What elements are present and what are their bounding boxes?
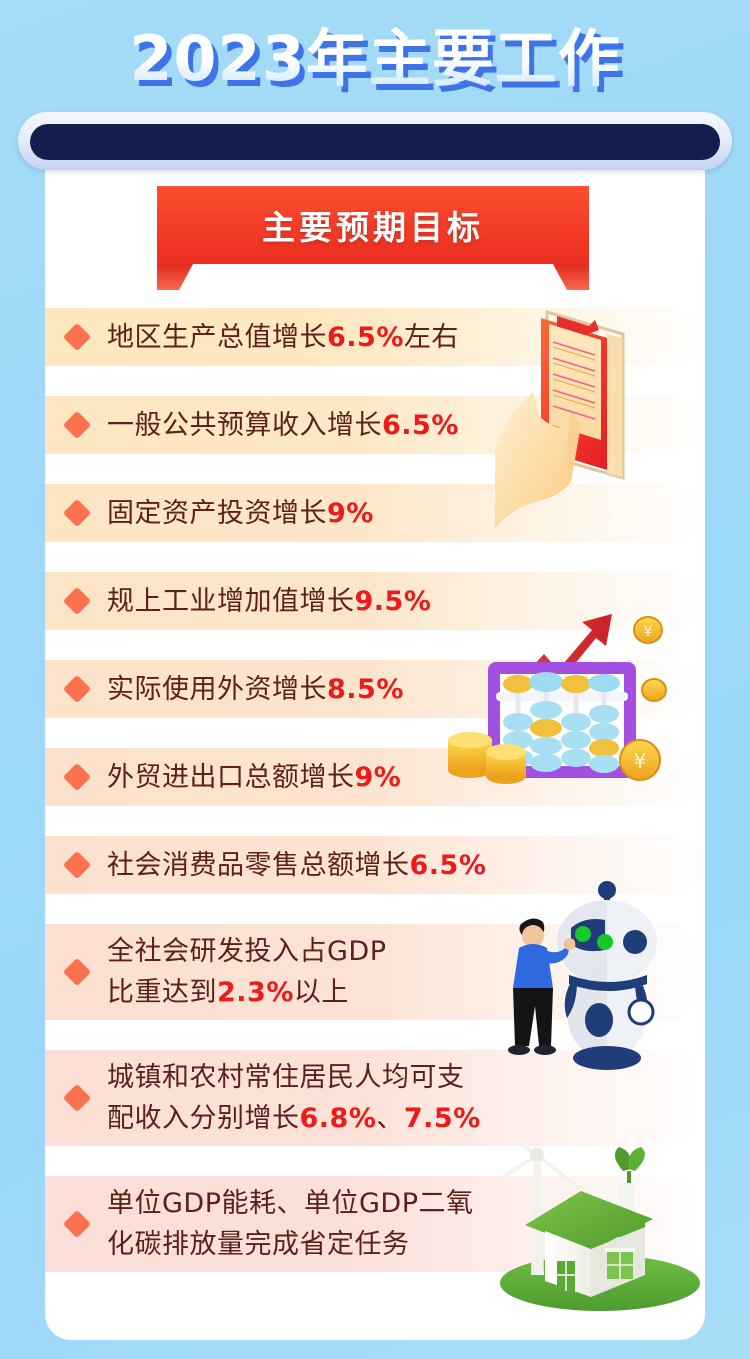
goal-value: 9% xyxy=(355,762,402,793)
goal-row: 全社会研发投入占GDP比重达到2.3%以上 xyxy=(45,924,705,1020)
header-pill-navy-bar xyxy=(30,124,720,160)
goal-row: 单位GDP能耗、单位GDP二氧化碳排放量完成省定任务 xyxy=(45,1176,705,1272)
goal-list: 地区生产总值增长6.5%左右一般公共预算收入增长6.5%固定资产投资增长9%规上… xyxy=(45,308,705,1302)
diamond-bullet-icon xyxy=(63,1210,91,1238)
goal-row: 规上工业增加值增长9.5% xyxy=(45,572,705,630)
goal-label: 城镇和农村常住居民人均可支 xyxy=(107,1062,465,1093)
goal-label: 以上 xyxy=(294,977,349,1008)
goal-text-line: 比重达到2.3%以上 xyxy=(107,972,387,1013)
goal-row: 固定资产投资增长9% xyxy=(45,484,705,542)
goal-text: 社会消费品零售总额增长6.5% xyxy=(107,845,486,886)
page-title: 2023年主要工作 xyxy=(129,26,621,92)
goal-label: 单位GDP能耗、单位GDP二氧 xyxy=(107,1188,474,1219)
section-banner: 主要预期目标 xyxy=(157,186,589,264)
goal-text: 一般公共预算收入增长6.5% xyxy=(107,405,459,446)
goal-label: 外贸进出口总额增长 xyxy=(107,762,355,793)
goal-text: 单位GDP能耗、单位GDP二氧化碳排放量完成省定任务 xyxy=(107,1183,474,1265)
goal-text-line: 外贸进出口总额增长9% xyxy=(107,757,401,798)
goal-text-line: 城镇和农村常住居民人均可支 xyxy=(107,1057,481,1098)
goal-label: 规上工业增加值增长 xyxy=(107,586,355,617)
page-title-wrapper: 2023年主要工作 xyxy=(0,26,750,92)
content-card: 主要预期目标 地区生产总值增长6.5%左右一般公共预算收入增长6.5%固定资产投… xyxy=(45,140,705,1340)
goal-row: 实际使用外资增长8.5% xyxy=(45,660,705,718)
goal-value: 9% xyxy=(327,498,374,529)
goal-text: 城镇和农村常住居民人均可支配收入分别增长6.8%、7.5% xyxy=(107,1057,481,1139)
goal-value: 6.5% xyxy=(410,850,487,881)
diamond-bullet-icon xyxy=(63,1084,91,1112)
diamond-bullet-icon xyxy=(63,763,91,791)
diamond-bullet-icon xyxy=(63,675,91,703)
goal-text-line: 化碳排放量完成省定任务 xyxy=(107,1224,474,1265)
diamond-bullet-icon xyxy=(63,323,91,351)
goal-text-line: 社会消费品零售总额增长6.5% xyxy=(107,845,486,886)
goal-label: 、 xyxy=(376,1103,404,1134)
goal-label: 配收入分别增长 xyxy=(107,1103,300,1134)
goal-label: 一般公共预算收入增长 xyxy=(107,410,382,441)
diamond-bullet-icon xyxy=(63,958,91,986)
goal-row: 城镇和农村常住居民人均可支配收入分别增长6.8%、7.5% xyxy=(45,1050,705,1146)
goal-text-line: 规上工业增加值增长9.5% xyxy=(107,581,431,622)
diamond-bullet-icon xyxy=(63,411,91,439)
goal-row: 外贸进出口总额增长9% xyxy=(45,748,705,806)
goal-label: 全社会研发投入占GDP xyxy=(107,936,387,967)
goal-text-line: 单位GDP能耗、单位GDP二氧 xyxy=(107,1183,474,1224)
goal-label: 地区生产总值增长 xyxy=(107,322,327,353)
goal-label: 实际使用外资增长 xyxy=(107,674,327,705)
diamond-bullet-icon xyxy=(63,499,91,527)
goal-text: 全社会研发投入占GDP比重达到2.3%以上 xyxy=(107,931,387,1013)
goal-text: 固定资产投资增长9% xyxy=(107,493,374,534)
goal-value: 6.5% xyxy=(327,322,404,353)
goal-label: 社会消费品零售总额增长 xyxy=(107,850,410,881)
goal-text-line: 一般公共预算收入增长6.5% xyxy=(107,405,459,446)
goal-row: 一般公共预算收入增长6.5% xyxy=(45,396,705,454)
goal-text: 规上工业增加值增长9.5% xyxy=(107,581,431,622)
goal-value: 2.3% xyxy=(217,977,294,1008)
goal-text-line: 地区生产总值增长6.5%左右 xyxy=(107,317,459,358)
goal-label: 固定资产投资增长 xyxy=(107,498,327,529)
goal-value: 9.5% xyxy=(355,586,432,617)
goal-label: 化碳排放量完成省定任务 xyxy=(107,1229,410,1260)
goal-value: 7.5% xyxy=(404,1103,481,1134)
goal-row: 社会消费品零售总额增长6.5% xyxy=(45,836,705,894)
banner-ribbon-tail xyxy=(157,264,589,290)
banner-label: 主要预期目标 xyxy=(157,186,589,264)
goal-text: 地区生产总值增长6.5%左右 xyxy=(107,317,459,358)
goal-value: 6.5% xyxy=(382,410,459,441)
goal-text: 实际使用外资增长8.5% xyxy=(107,669,404,710)
goal-text-line: 全社会研发投入占GDP xyxy=(107,931,387,972)
goal-text: 外贸进出口总额增长9% xyxy=(107,757,401,798)
goal-row: 地区生产总值增长6.5%左右 xyxy=(45,308,705,366)
goal-text-line: 实际使用外资增长8.5% xyxy=(107,669,404,710)
goal-text-line: 固定资产投资增长9% xyxy=(107,493,374,534)
goal-text-line: 配收入分别增长6.8%、7.5% xyxy=(107,1098,481,1139)
goal-value: 6.8% xyxy=(300,1103,377,1134)
diamond-bullet-icon xyxy=(63,587,91,615)
goal-label: 比重达到 xyxy=(107,977,217,1008)
goal-label: 左右 xyxy=(404,322,459,353)
goal-value: 8.5% xyxy=(327,674,404,705)
diamond-bullet-icon xyxy=(63,851,91,879)
infographic-page: 2023年主要工作 主要预期目标 地区生产总值增长6.5%左右一般公共预算收入增… xyxy=(0,0,750,1359)
